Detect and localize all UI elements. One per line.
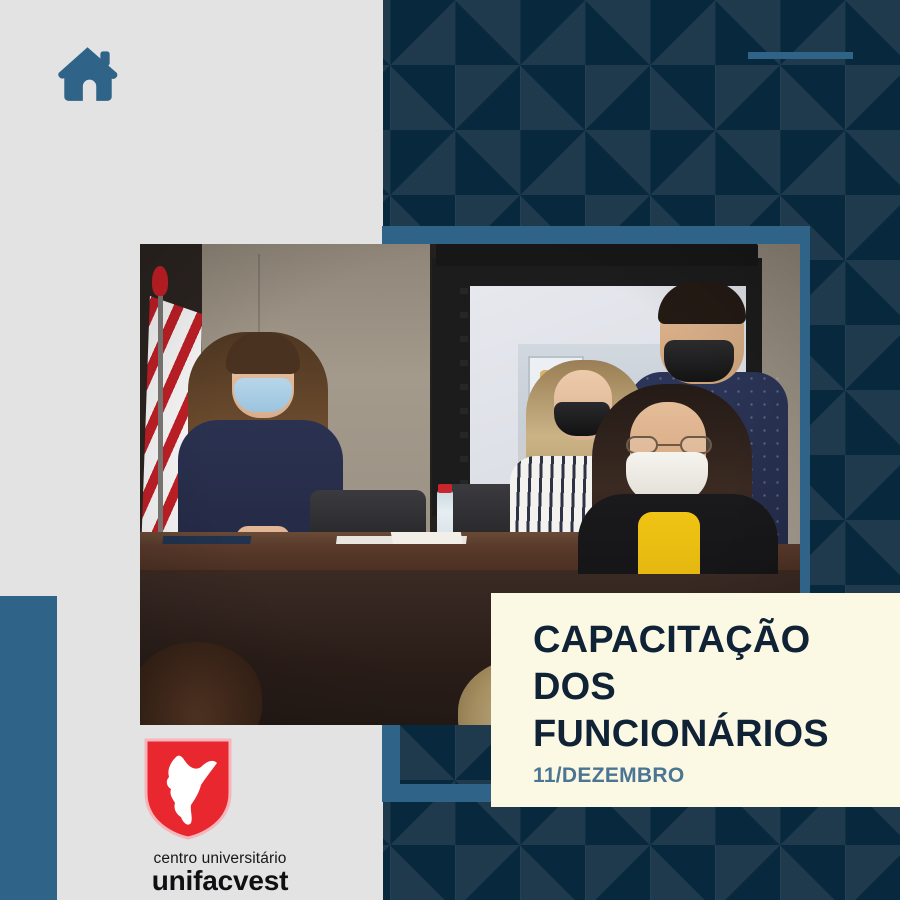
person-3-mask	[664, 340, 734, 382]
title-line-1: CAPACITAÇÃO	[533, 617, 900, 664]
university-logo: centro universitário unifacvest	[108, 737, 338, 897]
shield-icon	[143, 737, 233, 846]
flag-finial	[152, 266, 168, 296]
blue-accent-bar	[0, 596, 57, 900]
projector-screen-case	[436, 244, 758, 266]
person-1-mask	[234, 378, 292, 412]
title-panel: CAPACITAÇÃO DOS FUNCIONÁRIOS 11/DEZEMBRO	[491, 593, 900, 807]
event-date: 11/DEZEMBRO	[533, 764, 900, 788]
title-line-3: FUNCIONÁRIOS	[533, 711, 900, 758]
title-line-2: DOS	[533, 664, 900, 711]
flag-pole	[158, 276, 163, 576]
home-icon[interactable]	[55, 43, 121, 105]
poster-canvas: CAPACITAÇÃO DOS FUNCIONÁRIOS 11/DEZEMBRO…	[0, 0, 900, 900]
logo-line-2: unifacvest	[102, 865, 338, 897]
accent-line	[748, 52, 853, 59]
water-bottle-cap	[438, 484, 452, 493]
logo-text: centro universitário unifacvest	[102, 850, 338, 897]
